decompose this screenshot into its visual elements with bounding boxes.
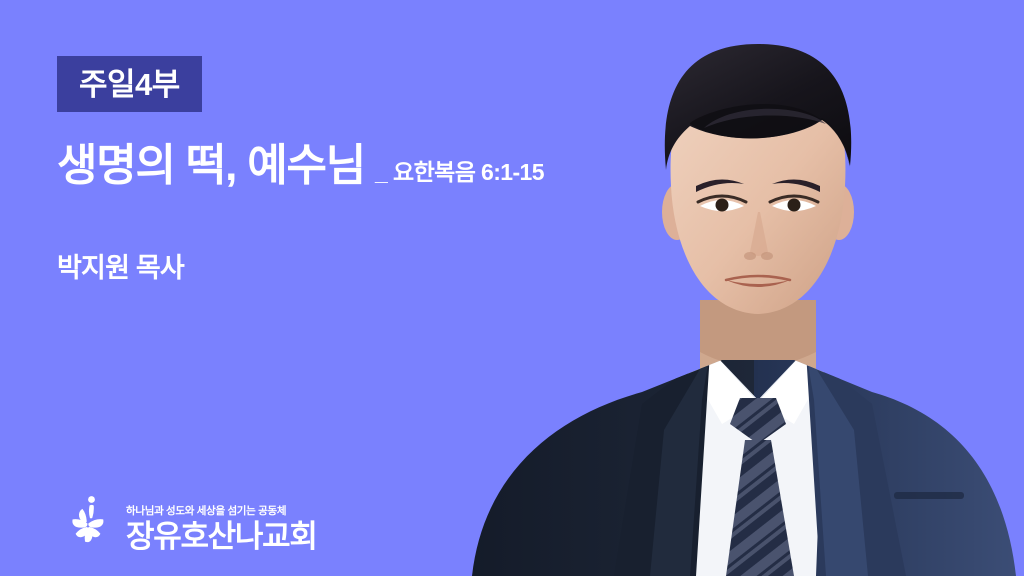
church-tagline: 하나님과 성도와 세상을 섬기는 공동체 [126,506,286,517]
scripture-reference: _ 요한복음 6:1-15 [375,161,544,184]
sermon-title-row: 생명의 떡, 예수님 _ 요한복음 6:1-15 [57,144,544,188]
church-logo-text: 하나님과 성도와 세상을 섬기는 공동체 장유호산나교회 [126,506,317,555]
speaker-portrait [464,0,1024,576]
sermon-title-card: 주일4부 생명의 떡, 예수님 _ 요한복음 6:1-15 박지원 목사 하나님… [0,0,1024,576]
service-badge-label: 주일4부 [79,69,180,100]
church-name: 장유호산나교회 [126,521,317,552]
service-badge: 주일4부 [57,56,202,112]
church-logo: 하나님과 성도와 세상을 섬기는 공동체 장유호산나교회 [58,494,317,554]
hosanna-flower-emblem-icon [58,494,116,554]
sermon-title: 생명의 떡, 예수님 [57,144,365,188]
speaker-name: 박지원 목사 [57,255,184,282]
